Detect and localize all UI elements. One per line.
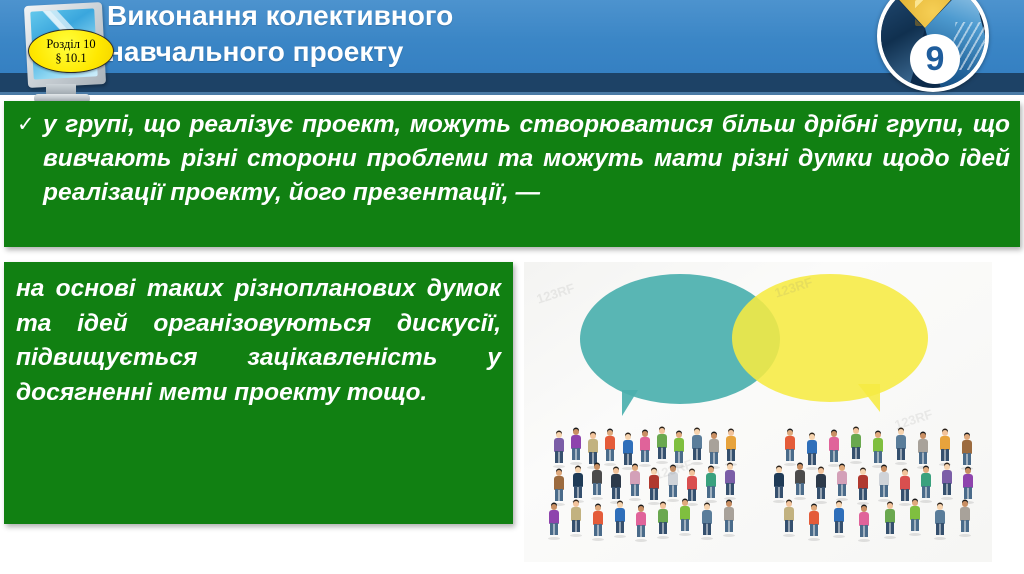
person-legs [593,483,601,495]
person-body [962,440,972,454]
crowd-person [569,429,583,463]
person-legs [659,522,667,534]
crowd-person [672,432,686,466]
crowd-person [958,501,972,535]
crowd-person [723,464,737,498]
person-shadow [635,539,647,542]
check-icon: ✓ [14,108,43,142]
person-body [918,439,928,453]
crowd-person [857,506,871,540]
person-legs [961,520,969,532]
person-legs [817,487,825,499]
crowd-person [552,470,566,504]
person-shadow [941,497,953,500]
section-badge-paragraph: § 10.1 [55,51,86,65]
person-body [687,476,697,490]
person-legs [650,488,658,500]
person-legs [681,519,689,531]
grade-circle-badge: 9 [877,0,989,92]
crowd-person [656,503,670,537]
person-body [940,436,950,450]
crowd-row [768,468,978,504]
person-legs [943,483,951,495]
person-body [630,471,640,485]
person-legs [859,488,867,500]
grade-circle-photo-collage: 9 [881,0,985,88]
person-body [658,509,668,523]
crowd-person [590,464,604,498]
person-body [960,507,970,521]
person-body [611,474,621,488]
crowd-person [835,465,849,499]
person-shadow [794,497,806,500]
person-shadow [679,533,691,536]
crowd-person [916,433,930,467]
person-legs [835,521,843,533]
person-legs [550,523,558,535]
crowd-person [569,501,583,535]
person-shadow [701,537,713,540]
person-body [549,510,559,524]
person-legs [727,449,735,461]
person-legs [786,449,794,461]
person-legs [874,451,882,463]
speech-bubble-teal-tail-icon [622,390,638,416]
header-accent-line [0,92,1024,95]
person-legs [808,453,816,465]
person-body [885,509,895,523]
person-body [702,510,712,524]
person-legs [675,451,683,463]
person-body [674,438,684,452]
person-body [896,435,906,449]
person-shadow [570,462,582,465]
section-badge: Розділ 10 § 10.1 [28,29,114,73]
crowd-person [856,469,870,503]
person-shadow [592,538,604,541]
person-shadow [691,462,703,465]
person-body [605,436,615,450]
person-legs [594,524,602,536]
speech-bubble-yellow-icon [732,274,928,402]
header-background-navy [0,73,1024,92]
crowd-person [793,464,807,498]
content-box-primary: ✓ у групі, що реалізує проект, можуть ст… [4,101,1020,247]
person-shadow [656,461,668,464]
person-body [657,434,667,448]
crowd-row [543,504,740,540]
person-body [834,508,844,522]
crowd-person [894,429,908,463]
crowd-row [776,504,978,540]
person-body [807,440,817,454]
person-legs [693,448,701,460]
person-body [816,474,826,488]
person-shadow [959,534,971,537]
crowd-row [779,432,978,468]
person-shadow [895,462,907,465]
person-legs [810,524,818,536]
person-shadow [604,463,616,466]
person-body [963,474,973,488]
grade-number: 9 [910,34,960,84]
person-body [640,437,650,451]
person-shadow [614,535,626,538]
person-body [649,475,659,489]
person-legs [897,448,905,460]
person-body [785,436,795,450]
crowd-person [782,501,796,535]
crowd-person [634,506,648,540]
person-legs [838,484,846,496]
crowd-person [871,432,885,466]
crowd-person [783,430,797,464]
crowd-row [549,468,740,504]
person-legs [726,483,734,495]
person-shadow [724,497,736,500]
crowd-person [547,504,561,538]
crowd-person [666,466,680,500]
person-body [573,473,583,487]
person-legs [880,485,888,497]
person-legs [852,447,860,459]
person-shadow [548,537,560,540]
crowd-person [814,468,828,502]
crowd-row [550,432,740,468]
person-body [571,435,581,449]
person-body [795,470,805,484]
crowd-person [571,467,585,501]
person-legs [785,520,793,532]
person-shadow [705,500,717,503]
crowd-person [849,428,863,462]
person-shadow [591,497,603,500]
person-shadow [850,461,862,464]
person-shadow [934,537,946,540]
person-body [774,473,784,487]
person-legs [572,448,580,460]
slide-header: Виконання колективного навчального проек… [0,0,1024,96]
person-legs [964,487,972,499]
person-legs [589,452,597,464]
crowd-person [919,467,933,501]
person-body [879,472,889,486]
person-shadow [808,538,820,541]
person-legs [830,450,838,462]
person-legs [703,523,711,535]
person-legs [941,449,949,461]
person-legs [710,452,718,464]
person-legs [796,483,804,495]
crowd-person [908,500,922,534]
person-body [873,438,883,452]
gold-blocks-detail-icon [915,0,961,26]
crowd-person [898,470,912,504]
crowd-group-left [540,432,740,540]
person-legs [963,453,971,465]
person-body [859,512,869,526]
person-legs [555,489,563,501]
crowd-person [883,503,897,537]
crowd-person [724,430,738,464]
person-shadow [884,536,896,539]
person-legs [641,450,649,462]
person-body [636,512,646,526]
person-shadow [723,534,735,537]
person-body [910,506,920,520]
paragraph-secondary: на основі таких різнопланових думок та і… [16,272,501,410]
person-body [709,439,719,453]
person-body [726,436,736,450]
person-body [942,470,952,484]
person-body [680,506,690,520]
crowd-person [609,468,623,502]
person-body [571,507,581,521]
crowd-person [877,466,891,500]
person-body [809,511,819,525]
crowd-person [827,431,841,465]
person-body [921,473,931,487]
person-body [724,507,734,521]
crowd-person [832,502,846,536]
person-body [692,435,702,449]
person-legs [624,453,632,465]
crowd-person [621,434,635,468]
crowd-person [685,470,699,504]
person-legs [669,485,677,497]
person-legs [572,520,580,532]
crowd-person [655,428,669,462]
person-body [668,472,678,486]
person-legs [612,487,620,499]
crowd-person [628,465,642,499]
crowd-person [704,467,718,501]
crowd-person [961,468,975,502]
person-shadow [570,534,582,537]
person-shadow [858,539,870,542]
person-legs [631,484,639,496]
person-body [725,470,735,484]
person-body [706,473,716,487]
page-title: Виконання колективного навчального проек… [107,0,847,70]
person-legs [574,486,582,498]
person-body [592,470,602,484]
person-legs [616,521,624,533]
person-body [829,437,839,451]
person-body [851,434,861,448]
person-legs [922,486,930,498]
person-shadow [833,535,845,538]
paragraph-primary: у групі, що реалізує проект, можуть ство… [43,108,1010,210]
crowd-person [722,501,736,535]
bullet-row: ✓ у групі, що реалізує проект, можуть ст… [14,108,1010,210]
person-shadow [629,498,641,501]
person-body [858,475,868,489]
speech-bubble-yellow-tail-icon [858,384,880,412]
person-legs [606,449,614,461]
crowd-person [613,502,627,536]
crowd-person [960,434,974,468]
crowd-person [700,504,714,538]
person-legs [658,447,666,459]
person-body [554,476,564,490]
person-legs [725,520,733,532]
crowd-group-right [768,432,978,540]
crowd-person [772,467,786,501]
crowd-person [933,504,947,538]
person-legs [555,451,563,463]
section-badge-chapter: Розділ 10 [46,37,95,51]
content-box-secondary: на основі таких різнопланових думок та і… [4,262,513,524]
person-legs [886,522,894,534]
person-body [935,510,945,524]
person-legs [860,525,868,537]
person-body [593,511,603,525]
crowd-person [638,431,652,465]
crowd-person [603,430,617,464]
crowd-person [678,500,692,534]
person-shadow [836,498,848,501]
person-legs [637,525,645,537]
person-shadow [909,533,921,536]
crowd-person [690,429,704,463]
person-body [623,440,633,454]
person-body [900,476,910,490]
crowd-person [586,433,600,467]
person-body [784,507,794,521]
person-body [588,439,598,453]
person-body [837,471,847,485]
person-legs [919,452,927,464]
person-legs [911,519,919,531]
crowd-person [707,433,721,467]
person-shadow [657,536,669,539]
monitor-logo-icon: Розділ 10 § 10.1 [12,0,116,105]
person-shadow [783,534,795,537]
watermark-text: 123RF [535,280,577,306]
crowd-speech-bubbles-illustration: 123RF 123RF 123RF 123RF [524,262,992,562]
crowd-person [938,430,952,464]
person-legs [707,486,715,498]
crowd-person [647,469,661,503]
person-legs [936,523,944,535]
person-shadow [878,499,890,502]
person-legs [775,486,783,498]
crowd-person [940,464,954,498]
crowd-person [591,505,605,539]
crowd-person [805,434,819,468]
crowd-person [807,505,821,539]
crowd-person [552,432,566,466]
person-body [615,508,625,522]
person-body [554,438,564,452]
